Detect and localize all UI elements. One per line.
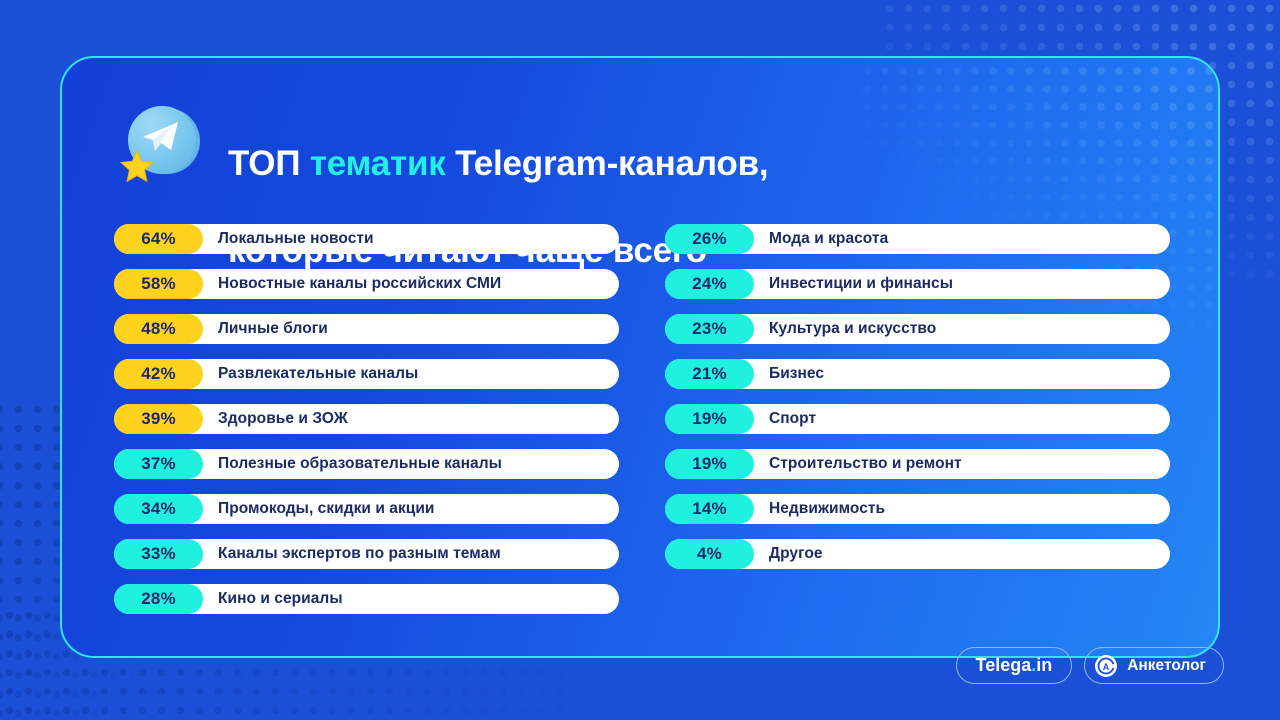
topic-percent-badge: 23%: [665, 314, 754, 344]
topic-percent-badge: 64%: [114, 224, 203, 254]
topic-row: 64%Локальные новости: [114, 224, 619, 254]
topic-row: 26%Мода и красота: [665, 224, 1170, 254]
topic-label: Спорт: [769, 410, 816, 428]
paper-plane-icon: [140, 120, 180, 154]
topic-label: Промокоды, скидки и акции: [218, 500, 435, 518]
title-suffix: Telegram-каналов,: [446, 144, 769, 183]
topic-row: 28%Кино и сериалы: [114, 584, 619, 614]
topic-label: Мода и красота: [769, 230, 888, 248]
topic-percent-badge: 4%: [665, 539, 754, 569]
topic-percent-badge: 34%: [114, 494, 203, 524]
topic-label: Полезные образовательные каналы: [218, 455, 502, 473]
topic-percent-badge: 42%: [114, 359, 203, 389]
topic-percent-badge: 26%: [665, 224, 754, 254]
topic-percent-badge: 19%: [665, 449, 754, 479]
topic-percent-badge: 58%: [114, 269, 203, 299]
title-line-1: ТОП тематик Telegram-каналов,: [228, 144, 768, 183]
anketolog-mark-letter: A: [1103, 662, 1110, 672]
topic-label: Бизнес: [769, 365, 824, 383]
topic-label: Здоровье и ЗОЖ: [218, 410, 348, 428]
topic-row: 4%Другое: [665, 539, 1170, 569]
topic-label: Инвестиции и финансы: [769, 275, 953, 293]
topics-column-left: 64%Локальные новости58%Новостные каналы …: [114, 224, 619, 629]
topic-row: 19%Спорт: [665, 404, 1170, 434]
topic-percent-badge: 24%: [665, 269, 754, 299]
topic-percent-badge: 39%: [114, 404, 203, 434]
anketolog-label: Анкетолог: [1127, 657, 1206, 675]
topic-percent-badge: 48%: [114, 314, 203, 344]
topic-label: Личные блоги: [218, 320, 328, 338]
star-icon: [120, 150, 154, 183]
topic-label: Другое: [769, 545, 823, 563]
topic-row: 34%Промокоды, скидки и акции: [114, 494, 619, 524]
topic-percent-badge: 21%: [665, 359, 754, 389]
topic-percent-badge: 19%: [665, 404, 754, 434]
anketolog-logo[interactable]: A Анкетолог: [1084, 647, 1224, 684]
telegram-icon: [120, 102, 204, 186]
topics-columns: 64%Локальные новости58%Новостные каналы …: [114, 224, 1170, 629]
topics-column-right: 26%Мода и красота24%Инвестиции и финансы…: [665, 224, 1170, 629]
topic-label: Каналы экспертов по разным темам: [218, 545, 501, 563]
topic-row: 23%Культура и искусство: [665, 314, 1170, 344]
topic-row: 21%Бизнес: [665, 359, 1170, 389]
anketolog-mark-icon: A: [1094, 654, 1118, 678]
content-card: ТОП тематик Telegram-каналов, которые чи…: [60, 56, 1220, 658]
telega-in-name: Telega: [976, 655, 1032, 676]
topic-row: 37%Полезные образовательные каналы: [114, 449, 619, 479]
topic-percent-badge: 33%: [114, 539, 203, 569]
topic-label: Локальные новости: [218, 230, 374, 248]
topic-row: 33%Каналы экспертов по разным темам: [114, 539, 619, 569]
topic-row: 48%Личные блоги: [114, 314, 619, 344]
topic-percent-badge: 37%: [114, 449, 203, 479]
topic-row: 19%Строительство и ремонт: [665, 449, 1170, 479]
topic-percent-badge: 14%: [665, 494, 754, 524]
title-accent-word: тематик: [310, 144, 446, 183]
brand-footer: Telega.in A Анкетолог: [956, 647, 1224, 684]
topic-label: Строительство и ремонт: [769, 455, 962, 473]
topic-label: Развлекательные каналы: [218, 365, 418, 383]
topic-row: 39%Здоровье и ЗОЖ: [114, 404, 619, 434]
topic-row: 42%Развлекательные каналы: [114, 359, 619, 389]
topic-label: Кино и сериалы: [218, 590, 343, 608]
telega-in-logo[interactable]: Telega.in: [956, 647, 1073, 684]
telega-in-tld: in: [1036, 655, 1052, 676]
infographic-canvas: ТОП тематик Telegram-каналов, которые чи…: [0, 0, 1280, 720]
topic-row: 58%Новостные каналы российских СМИ: [114, 269, 619, 299]
topic-percent-badge: 28%: [114, 584, 203, 614]
topic-row: 14%Недвижимость: [665, 494, 1170, 524]
topic-label: Культура и искусство: [769, 320, 936, 338]
topic-row: 24%Инвестиции и финансы: [665, 269, 1170, 299]
topic-label: Недвижимость: [769, 500, 885, 518]
topic-label: Новостные каналы российских СМИ: [218, 275, 501, 293]
title-prefix: ТОП: [228, 144, 310, 183]
